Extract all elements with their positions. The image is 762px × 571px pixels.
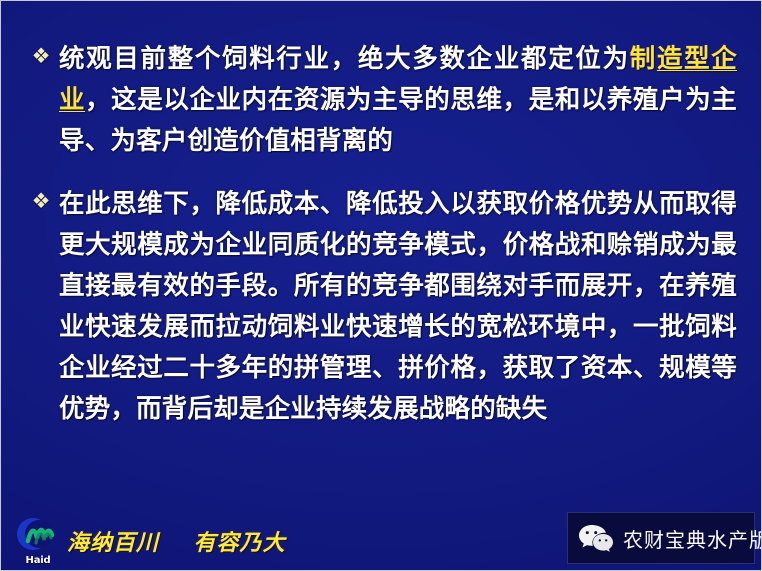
bullet-item-1-text: 统观目前整个饲料行业，绝大多数企业都定位为制造型企业，这是以企业内在资源为主导的… <box>59 39 737 162</box>
haid-wordmark: Haid <box>18 555 58 566</box>
bullet-item-1: ❖ 统观目前整个饲料行业，绝大多数企业都定位为制造型企业，这是以企业内在资源为主… <box>27 39 737 162</box>
diamond-cluster-bullet-icon: ❖ <box>29 46 53 70</box>
haid-logo-icon <box>14 516 58 554</box>
bullet-item-2-text: 在此思维下，降低成本、降低投入以获取价格优势从而取得更大规模成为企业同质化的竞争… <box>59 184 737 430</box>
slide-footer: Haid 海纳百川 有容乃大 农财宝典水产版 <box>1 504 761 570</box>
bullet-1-segment-4: ，这是以企业内在资源为主导的思维，是和以养殖户为主导、为客户创造价值相背离的 <box>59 85 737 156</box>
bullet-item-2: ❖ 在此思维下，降低成本、降低投入以获取价格优势从而取得更大规模成为企业同质化的… <box>27 184 737 430</box>
wechat-account-name: 农财宝典水产版 <box>623 524 762 553</box>
presentation-slide: ❖ 统观目前整个饲料行业，绝大多数企业都定位为制造型企业，这是以企业内在资源为主… <box>0 0 762 571</box>
slide-body: ❖ 统观目前整个饲料行业，绝大多数企业都定位为制造型企业，这是以企业内在资源为主… <box>1 1 761 504</box>
bullet-1-segment-1: 统观目前整个饲料行业，绝大多数企业都定位为 <box>59 44 630 74</box>
diamond-cluster-bullet-icon: ❖ <box>29 191 53 215</box>
footer-slogan: 海纳百川 有容乃大 <box>67 525 286 557</box>
haid-logo: Haid <box>14 516 62 566</box>
wechat-account-badge: 农财宝典水产版 <box>567 512 755 564</box>
wechat-icon <box>578 523 614 553</box>
bullet-1-segment-highlight: 制 <box>630 44 657 74</box>
